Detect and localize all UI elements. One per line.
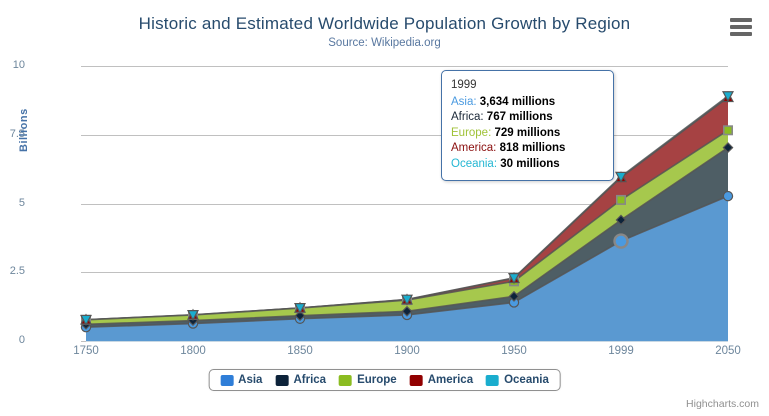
menu-bar-2 bbox=[730, 25, 752, 29]
ytick-label: 0 bbox=[0, 334, 25, 346]
hamburger-menu-icon[interactable] bbox=[730, 18, 752, 36]
legend-swatch-icon bbox=[339, 375, 352, 386]
xtick-label: 1900 bbox=[372, 345, 442, 357]
legend-swatch-icon bbox=[275, 375, 288, 386]
tooltip-series-value: 729 millions bbox=[494, 127, 560, 139]
legend-item-asia[interactable]: Asia bbox=[220, 374, 262, 386]
legend-label: Asia bbox=[238, 374, 262, 386]
xtick-label: 1950 bbox=[479, 345, 549, 357]
tooltip-rows: Asia: 3,634 millionsAfrica: 767 millions… bbox=[451, 95, 604, 173]
ytick-label: 5 bbox=[0, 197, 25, 209]
menu-bar-3 bbox=[730, 32, 752, 36]
data-point[interactable] bbox=[723, 192, 732, 201]
legend-item-oceania[interactable]: Oceania bbox=[486, 374, 549, 386]
tooltip-series-name: Asia: bbox=[451, 96, 480, 108]
data-point[interactable] bbox=[617, 196, 625, 204]
legend-label: Africa bbox=[293, 374, 326, 386]
highcharts-container: Historic and Estimated Worldwide Populat… bbox=[0, 0, 769, 416]
legend-label: Europe bbox=[357, 374, 397, 386]
tooltip-series-name: Africa: bbox=[451, 111, 487, 123]
credits-label[interactable]: Highcharts.com bbox=[686, 398, 759, 410]
tooltip-series-name: America: bbox=[451, 142, 500, 154]
ytick-label: 2.5 bbox=[0, 265, 25, 277]
tooltip-series-name: Oceania: bbox=[451, 158, 500, 170]
xtick-label: 2050 bbox=[693, 345, 763, 357]
tooltip-series-value: 3,634 millions bbox=[480, 96, 555, 108]
menu-bar-1 bbox=[730, 18, 752, 22]
tooltip-series-value: 30 millions bbox=[500, 158, 559, 170]
xtick-label: 1750 bbox=[51, 345, 121, 357]
tooltip-row: Asia: 3,634 millions bbox=[451, 95, 604, 111]
tooltip-header: 1999 bbox=[451, 78, 604, 95]
tooltip-row: Oceania: 30 millions bbox=[451, 157, 604, 173]
tooltip: 1999 Asia: 3,634 millionsAfrica: 767 mil… bbox=[441, 70, 614, 181]
legend-item-africa[interactable]: Africa bbox=[275, 374, 326, 386]
legend-label: Oceania bbox=[504, 374, 549, 386]
xtick-label: 1999 bbox=[586, 345, 656, 357]
series-layer bbox=[86, 66, 728, 341]
xtick-label: 1800 bbox=[158, 345, 228, 357]
chart-title: Historic and Estimated Worldwide Populat… bbox=[0, 14, 769, 34]
tooltip-row: America: 818 millions bbox=[451, 141, 604, 157]
xaxis-line bbox=[86, 341, 728, 342]
chart-subtitle: Source: Wikipedia.org bbox=[0, 37, 769, 49]
tooltip-row: Europe: 729 millions bbox=[451, 126, 604, 142]
ytick-label: 7.5 bbox=[0, 128, 25, 140]
ytick-label: 10 bbox=[0, 59, 25, 71]
tooltip-series-name: Europe: bbox=[451, 127, 494, 139]
legend-swatch-icon bbox=[486, 375, 499, 386]
data-point[interactable] bbox=[724, 126, 732, 134]
legend-swatch-icon bbox=[410, 375, 423, 386]
tooltip-row: Africa: 767 millions bbox=[451, 110, 604, 126]
legend-item-europe[interactable]: Europe bbox=[339, 374, 397, 386]
legend-label: America bbox=[428, 374, 473, 386]
xtick-label: 1850 bbox=[265, 345, 335, 357]
legend-swatch-icon bbox=[220, 375, 233, 386]
chart-legend[interactable]: AsiaAfricaEuropeAmericaOceania bbox=[208, 369, 561, 391]
tooltip-series-value: 767 millions bbox=[487, 111, 553, 123]
plot-area bbox=[86, 66, 728, 341]
legend-item-america[interactable]: America bbox=[410, 374, 473, 386]
tooltip-series-value: 818 millions bbox=[500, 142, 566, 154]
data-point[interactable] bbox=[615, 235, 628, 248]
